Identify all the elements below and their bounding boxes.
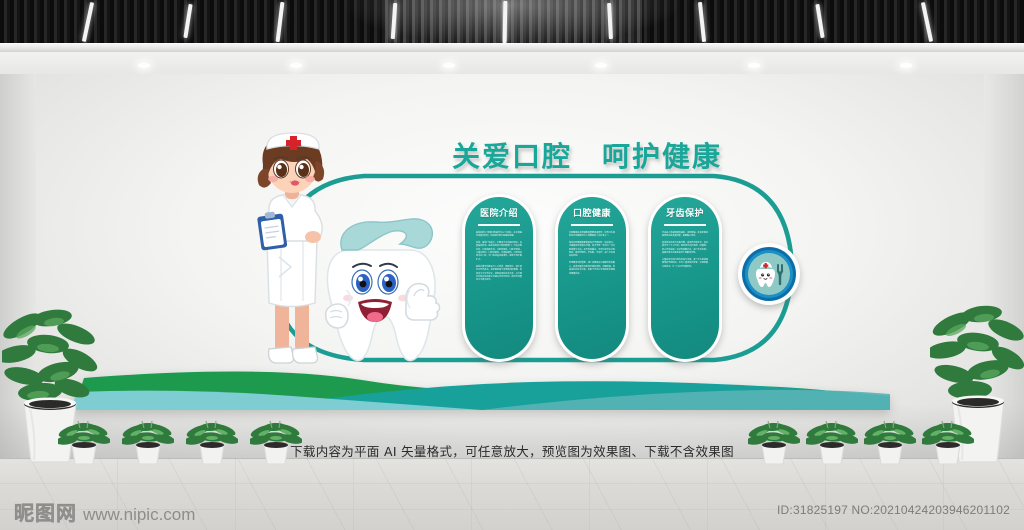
info-card[interactable]: 牙齿保护 牙齿是人体最坚硬的器官，承担咀嚼、发音和维持面部形态等多重功能，需要精… [648,194,722,362]
downlight [138,63,150,68]
site-watermark: 昵图网 www.nipic.com [14,497,195,526]
tooth-pliers-icon [752,257,786,291]
ceiling-soffit [0,52,1024,74]
info-card-paragraph: 合理膳食同样重要，减少高糖食品与碳酸饮料的摄入，多食用富含钙质和纤维的食物，戒烟… [569,262,615,276]
asset-id-label: ID:31825197 NO:20210424203946201102 [777,503,1010,517]
ceiling-light-strip [276,2,285,42]
info-card-divider [664,224,706,226]
info-card-paragraph: 目前，医院广纳英才，汇聚高水平的医护团队，设置临床科室、医技科室及行政职能部门，… [476,242,522,262]
ceiling-light-strip [503,1,508,43]
info-card-body: 医院始终以"国家口腔医学中心"为目标，在引领医学发展的同时，持续提升群众就医获得… [472,232,526,283]
watermark-url: www.nipic.com [83,505,195,525]
info-card-title: 牙齿保护 [658,206,712,219]
ceiling-lip [0,43,1024,52]
nurse-character [243,131,339,369]
info-card-paragraph: 牙齿是人体最坚硬的器官，承担咀嚼、发音和维持面部形态等多重功能，需要精心呵护。 [662,232,708,239]
info-card-body: 口腔健康是全身健康的重要组成部分，世界卫生组织将牙齿健康列为人体健康的十大标准之… [565,232,619,276]
info-card-paragraph: 保持口腔健康需要做到每天早晚刷牙、饭后漱口，正确使用牙线清洁牙缝，每半年至一年进… [569,242,615,259]
info-card-divider [478,224,520,226]
ceiling-light-strip [921,2,933,42]
info-card-divider [571,224,613,226]
downlight [443,63,455,68]
info-card-body: 牙齿是人体最坚硬的器官，承担咀嚼、发音和维持面部形态等多重功能，需要精心呵护。 … [658,232,712,270]
info-card-paragraph: 医院注重学科建设与人才培养，拥有博士、硕士研究生导师多名，承担国家级与省部级科研… [476,266,522,283]
downlight [595,63,607,68]
info-card[interactable]: 口腔健康 口腔健康是全身健康的重要组成部分，世界卫生组织将牙齿健康列为人体健康的… [555,194,629,362]
badge-outer-ring [742,247,796,301]
dental-badge[interactable] [738,243,800,305]
downlight [900,63,912,68]
ceiling-light-strip [815,4,824,38]
info-card-paragraph: 口腔健康是全身健康的重要组成部分，世界卫生组织将牙齿健康列为人体健康的十大标准之… [569,232,615,239]
downlight [748,63,760,68]
ceiling-light-strip [698,2,706,42]
info-card-paragraph: 儿童应及时进行窝沟封闭与涂氟，青少年注意错颌畸形的早期矫治，老年人重视缺牙修复，… [662,259,708,269]
ceiling-light-strip [82,2,94,42]
info-card-paragraph: 选择软毛牙刷与含氟牙膏，采用巴氏刷牙法，每次刷牙不少于三分钟；避免用牙齿开瓶盖、… [662,242,708,256]
base-wave-graphic [62,358,892,416]
info-card-inner: 口腔健康 口腔健康是全身健康的重要组成部分，世界卫生组织将牙齿健康列为人体健康的… [558,197,626,359]
watermark-brand: 昵图网 [14,497,77,526]
scene-root: 关爱口腔 呵护健康 医院介绍 医院始终以"国家口腔医学中心"为目标，在引领医学发… [0,0,1024,530]
info-card-title: 口腔健康 [565,206,619,219]
info-card-group: 医院介绍 医院始终以"国家口腔医学中心"为目标，在引领医学发展的同时，持续提升群… [462,194,722,364]
ceiling-light-strip [183,4,192,38]
ceiling-baffles [0,0,1024,46]
page-title: 关爱口腔 呵护健康 [452,135,722,175]
badge-inner-ring [745,250,793,298]
download-notice-caption: 下载内容为平面 AI 矢量格式，可任意放大，预览图为效果图、下载不含效果图 [0,441,1024,460]
downlight [290,63,302,68]
badge-face [748,253,790,295]
info-card[interactable]: 医院介绍 医院始终以"国家口腔医学中心"为目标，在引领医学发展的同时，持续提升群… [462,194,536,362]
info-card-paragraph: 医院始终以"国家口腔医学中心"为目标，在引领医学发展的同时，持续提升群众就医获得… [476,232,522,239]
info-card-inner: 牙齿保护 牙齿是人体最坚硬的器官，承担咀嚼、发音和维持面部形态等多重功能，需要精… [651,197,719,359]
info-card-inner: 医院介绍 医院始终以"国家口腔医学中心"为目标，在引领医学发展的同时，持续提升群… [465,197,533,359]
info-card-title: 医院介绍 [472,206,526,219]
